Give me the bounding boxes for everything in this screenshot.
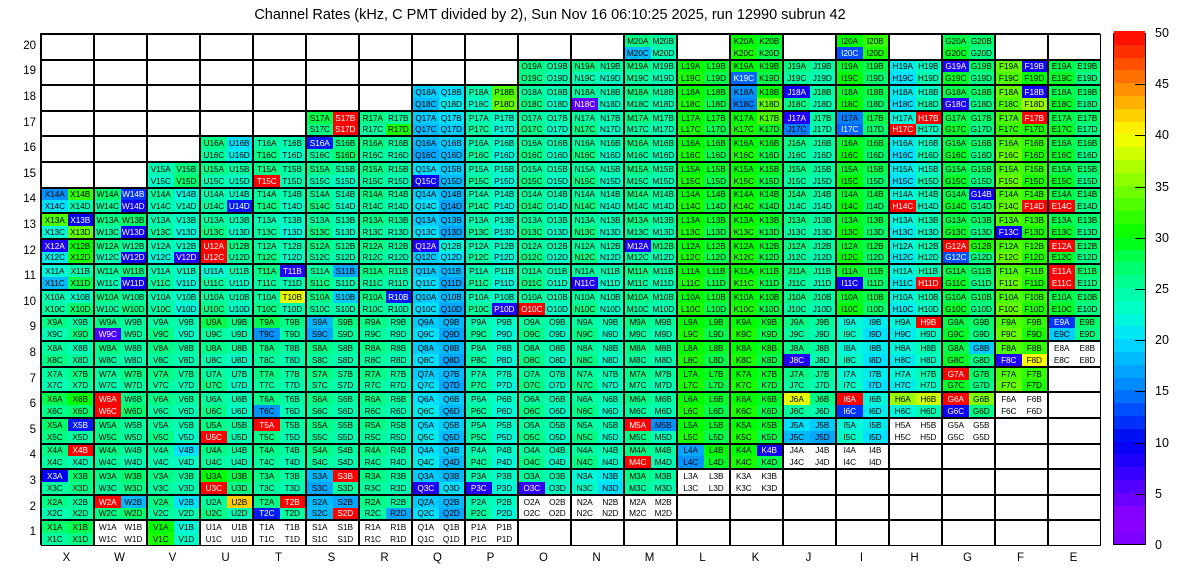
channel-V6D: V6D xyxy=(174,405,200,417)
channel-F13C: F13C xyxy=(996,226,1022,238)
supercell-E2 xyxy=(1048,495,1101,521)
palette-band xyxy=(1114,428,1145,441)
supercell-T14: T14AT14BT14CT14D xyxy=(253,188,306,214)
channel-Q10D: Q10D xyxy=(439,303,465,315)
supercell-T10: T10AT10BT10CT10D xyxy=(253,290,306,316)
supercell-X15 xyxy=(41,162,94,188)
channel-S16D: S16D xyxy=(333,149,359,161)
channel-L8D: L8D xyxy=(704,354,730,366)
channel-L5B: L5B xyxy=(704,419,730,431)
channel-P16A: P16A xyxy=(466,137,492,149)
channel-I8B: I8B xyxy=(863,342,889,354)
channel-G17B: G17B xyxy=(969,112,995,124)
channel-H18D: H18D xyxy=(916,98,942,110)
channel-O3D: O3D xyxy=(545,482,571,494)
channel-X2D: X2D xyxy=(68,508,94,520)
channel-R14B: R14B xyxy=(386,189,412,201)
channel-U15C: U15C xyxy=(201,175,227,187)
supercell-L11: L11AL11BL11CL11D xyxy=(677,264,730,290)
channel-V8A: V8A xyxy=(148,342,174,354)
channel-E14B: E14B xyxy=(1075,189,1101,201)
channel-N8B: N8B xyxy=(598,342,624,354)
channel-J5C: J5C xyxy=(784,431,810,443)
channel-P12D: P12D xyxy=(492,252,518,264)
channel-S11A: S11A xyxy=(307,265,333,277)
channel-E12C: E12C xyxy=(1049,252,1075,264)
supercell-W15 xyxy=(94,162,147,188)
channel-P2D: P2D xyxy=(492,508,518,520)
channel-G20B: G20B xyxy=(969,35,995,47)
channel-Q14A: Q14A xyxy=(413,189,439,201)
channel-E19A: E19A xyxy=(1049,61,1075,73)
channel-S1C: S1C xyxy=(307,533,333,545)
channel-M17B: M17B xyxy=(651,112,677,124)
channel-O16D: O16D xyxy=(545,149,571,161)
channel-M3A: M3A xyxy=(625,470,651,482)
channel-S2A: S2A xyxy=(307,496,333,508)
channel-S2B: S2B xyxy=(333,496,359,508)
supercell-X4: X4AX4BX4CX4D xyxy=(41,444,94,470)
channel-G6B: G6B xyxy=(969,393,995,405)
palette-band xyxy=(1114,300,1145,313)
channel-K15D: K15D xyxy=(757,175,783,187)
channel-N18C: N18C xyxy=(572,98,598,110)
channel-I17B: I17B xyxy=(863,112,889,124)
palette-tickmark xyxy=(1135,340,1146,341)
channel-U11C: U11C xyxy=(201,277,227,289)
channel-K3B: K3B xyxy=(757,470,783,482)
channel-T10D: T10D xyxy=(280,303,306,315)
channel-K20B: K20B xyxy=(757,35,783,47)
channel-F7C: F7C xyxy=(996,380,1022,392)
channel-O7B: O7B xyxy=(545,368,571,380)
supercell-S20 xyxy=(306,34,359,60)
channel-H19A: H19A xyxy=(890,61,916,73)
channel-U3D: U3D xyxy=(227,482,253,494)
supercell-H12: H12AH12BH12CH12D xyxy=(889,239,942,265)
channel-X11A: X11A xyxy=(42,265,68,277)
channel-V12A: V12A xyxy=(148,240,174,252)
channel-X10C: X10C xyxy=(42,303,68,315)
channel-G15B: G15B xyxy=(969,163,995,175)
channel-U12A: U12A xyxy=(201,240,227,252)
channel-N19B: N19B xyxy=(598,61,624,73)
channel-V1D: V1D xyxy=(174,533,200,545)
supercell-J18: J18AJ18BJ18CJ18D xyxy=(783,85,836,111)
supercell-L7: L7AL7BL7CL7D xyxy=(677,367,730,393)
channel-Q13C: Q13C xyxy=(413,226,439,238)
channel-T2B: T2B xyxy=(280,496,306,508)
channel-T10C: T10C xyxy=(254,303,280,315)
channel-H7D: H7D xyxy=(916,380,942,392)
channel-U6A: U6A xyxy=(201,393,227,405)
channel-L16C: L16C xyxy=(678,149,704,161)
channel-K19D: K19D xyxy=(757,72,783,84)
channel-T4A: T4A xyxy=(254,445,280,457)
channel-G17D: G17D xyxy=(969,124,995,136)
channel-O5A: O5A xyxy=(519,419,545,431)
channel-K16C: K16C xyxy=(731,149,757,161)
channel-R15B: R15B xyxy=(386,163,412,175)
channel-X8B: X8B xyxy=(68,342,94,354)
channel-K9C: K9C xyxy=(731,328,757,340)
channel-L10A: L10A xyxy=(678,291,704,303)
channel-M9D: M9D xyxy=(651,328,677,340)
channel-T8B: T8B xyxy=(280,342,306,354)
supercell-Q6: Q6AQ6BQ6CQ6D xyxy=(412,392,465,418)
palette-tickmark xyxy=(1135,84,1146,85)
channel-W7B: W7B xyxy=(121,368,147,380)
channel-N12C: N12C xyxy=(572,252,598,264)
channel-F12C: F12C xyxy=(996,252,1022,264)
channel-P14C: P14C xyxy=(466,200,492,212)
channel-W11A: W11A xyxy=(95,265,121,277)
channel-U9A: U9A xyxy=(201,317,227,329)
channel-M19B: M19B xyxy=(651,61,677,73)
channel-R15C: R15C xyxy=(360,175,386,187)
channel-J13D: J13D xyxy=(810,226,836,238)
channel-R3C: R3C xyxy=(360,482,386,494)
channel-J13B: J13B xyxy=(810,214,836,226)
supercell-Q16: Q16AQ16BQ16CQ16D xyxy=(412,136,465,162)
channel-K8B: K8B xyxy=(757,342,783,354)
channel-I11B: I11B xyxy=(863,265,889,277)
channel-P9D: P9D xyxy=(492,328,518,340)
supercell-I14: I14AI14BI14CI14D xyxy=(836,188,889,214)
channel-W14C: W14C xyxy=(95,200,121,212)
supercell-V19 xyxy=(147,60,200,86)
channel-U4C: U4C xyxy=(201,456,227,468)
channel-G16A: G16A xyxy=(943,137,969,149)
supercell-H20 xyxy=(889,34,942,60)
supercell-M19: M19AM19BM19CM19D xyxy=(624,60,677,86)
channel-H10C: H10C xyxy=(890,303,916,315)
channel-V9B: V9B xyxy=(174,317,200,329)
channel-P7A: P7A xyxy=(466,368,492,380)
supercell-X18 xyxy=(41,85,94,111)
channel-H19B: H19B xyxy=(916,61,942,73)
channel-K15A: K15A xyxy=(731,163,757,175)
supercell-E16: E16AE16BE16CE16D xyxy=(1048,136,1101,162)
channel-U12D: U12D xyxy=(227,252,253,264)
channel-P14A: P14A xyxy=(466,189,492,201)
channel-T15B: T15B xyxy=(280,163,306,175)
channel-U9D: U9D xyxy=(227,328,253,340)
y-axis: 2019181716151413121110987654321 xyxy=(0,33,36,545)
channel-X8A: X8A xyxy=(42,342,68,354)
channel-Q16A: Q16A xyxy=(413,137,439,149)
channel-F11C: F11C xyxy=(996,277,1022,289)
channel-P3D: P3D xyxy=(492,482,518,494)
channel-K13C: K13C xyxy=(731,226,757,238)
channel-K18A: K18A xyxy=(731,86,757,98)
supercell-T12: T12AT12BT12CT12D xyxy=(253,239,306,265)
channel-X5B: X5B xyxy=(68,419,94,431)
channel-E8B: E8B xyxy=(1075,342,1101,354)
supercell-O3: O3AO3BO3CO3D xyxy=(518,469,571,495)
channel-W8B: W8B xyxy=(121,342,147,354)
channel-X11D: X11D xyxy=(68,277,94,289)
channel-S4B: S4B xyxy=(333,445,359,457)
palette-band xyxy=(1114,351,1145,364)
channel-S9A: S9A xyxy=(307,317,333,329)
channel-Q3C: Q3C xyxy=(413,482,439,494)
channel-V1C: V1C xyxy=(148,533,174,545)
supercell-T6: T6AT6BT6CT6D xyxy=(253,392,306,418)
channel-S5C: S5C xyxy=(307,431,333,443)
supercell-G1 xyxy=(942,520,995,546)
channel-Q1B: Q1B xyxy=(439,521,465,533)
supercell-V16 xyxy=(147,136,200,162)
channel-Q13A: Q13A xyxy=(413,214,439,226)
channel-Q9D: Q9D xyxy=(439,328,465,340)
channel-R17A: R17A xyxy=(360,112,386,124)
channel-M7C: M7C xyxy=(625,380,651,392)
channel-O14D: O14D xyxy=(545,200,571,212)
channel-J9D: J9D xyxy=(810,328,836,340)
channel-U16D: U16D xyxy=(227,149,253,161)
supercell-T1: T1AT1BT1CT1D xyxy=(253,520,306,546)
channel-O19D: O19D xyxy=(545,72,571,84)
channel-M14B: M14B xyxy=(651,189,677,201)
channel-N13D: N13D xyxy=(598,226,624,238)
y-axis-label-row-7: 7 xyxy=(10,373,36,385)
supercell-F14: F14AF14BF14CF14D xyxy=(995,188,1048,214)
channel-O7C: O7C xyxy=(519,380,545,392)
channel-P17D: P17D xyxy=(492,124,518,136)
supercell-N20 xyxy=(571,34,624,60)
channel-V15A: V15A xyxy=(148,163,174,175)
supercell-I8: I8AI8BI8CI8D xyxy=(836,341,889,367)
channel-S3B: S3B xyxy=(333,470,359,482)
channel-L15B: L15B xyxy=(704,163,730,175)
channel-L8B: L8B xyxy=(704,342,730,354)
channel-X3C: X3C xyxy=(42,482,68,494)
supercell-U4: U4AU4BU4CU4D xyxy=(200,444,253,470)
channel-K5A: K5A xyxy=(731,419,757,431)
channel-N8D: N8D xyxy=(598,354,624,366)
supercell-I2 xyxy=(836,495,889,521)
channel-U4A: U4A xyxy=(201,445,227,457)
channel-F14D: F14D xyxy=(1022,200,1048,212)
channel-K6C: K6C xyxy=(731,405,757,417)
channel-X9B: X9B xyxy=(68,317,94,329)
channel-R8A: R8A xyxy=(360,342,386,354)
channel-P12C: P12C xyxy=(466,252,492,264)
channel-N16C: N16C xyxy=(572,149,598,161)
channel-J8D: J8D xyxy=(810,354,836,366)
channel-N11D: N11D xyxy=(598,277,624,289)
channel-M20C: M20C xyxy=(625,47,651,59)
channel-J8A: J8A xyxy=(784,342,810,354)
y-axis-label-row-9: 9 xyxy=(10,321,36,333)
channel-I17D: I17D xyxy=(863,124,889,136)
channel-K16D: K16D xyxy=(757,149,783,161)
supercell-Q11: Q11AQ11BQ11CQ11D xyxy=(412,264,465,290)
supercell-V2: V2AV2BV2CV2D xyxy=(147,495,200,521)
supercell-L18: L18AL18BL18CL18D xyxy=(677,85,730,111)
channel-J4D: J4D xyxy=(810,456,836,468)
channel-W2D: W2D xyxy=(121,508,147,520)
supercell-X8: X8AX8BX8CX8D xyxy=(41,341,94,367)
channel-G17C: G17C xyxy=(943,124,969,136)
channel-T6C: T6C xyxy=(254,405,280,417)
supercell-T7: T7AT7BT7CT7D xyxy=(253,367,306,393)
channel-X4A: X4A xyxy=(42,445,68,457)
supercell-S6: S6AS6BS6CS6D xyxy=(306,392,359,418)
channel-J19B: J19B xyxy=(810,61,836,73)
channel-L17D: L17D xyxy=(704,124,730,136)
channel-R7D: R7D xyxy=(386,380,412,392)
channel-K15C: K15C xyxy=(731,175,757,187)
supercell-Q7: Q7AQ7BQ7CQ7D xyxy=(412,367,465,393)
channel-T12D: T12D xyxy=(280,252,306,264)
channel-G6A: G6A xyxy=(943,393,969,405)
supercell-V20 xyxy=(147,34,200,60)
supercell-Q12: Q12AQ12BQ12CQ12D xyxy=(412,239,465,265)
supercell-V7: V7AV7BV7CV7D xyxy=(147,367,200,393)
channel-L4D: L4D xyxy=(704,456,730,468)
x-axis-label-col-Q: Q xyxy=(423,552,453,564)
channel-E13C: E13C xyxy=(1049,226,1075,238)
channel-G19B: G19B xyxy=(969,61,995,73)
supercell-Q20 xyxy=(412,34,465,60)
channel-X3A: X3A xyxy=(42,470,68,482)
supercell-W4: W4AW4BW4CW4D xyxy=(94,444,147,470)
channel-H9A: H9A xyxy=(890,317,916,329)
channel-Q4D: Q4D xyxy=(439,456,465,468)
channel-K18C: K18C xyxy=(731,98,757,110)
supercell-T8: T8AT8BT8CT8D xyxy=(253,341,306,367)
supercell-H2 xyxy=(889,495,942,521)
channel-R16D: R16D xyxy=(386,149,412,161)
channel-L11B: L11B xyxy=(704,265,730,277)
channel-H17A: H17A xyxy=(890,112,916,124)
channel-V7D: V7D xyxy=(174,380,200,392)
channel-V5D: V5D xyxy=(174,431,200,443)
channel-W4D: W4D xyxy=(121,456,147,468)
supercell-H14: H14AH14BH14CH14D xyxy=(889,188,942,214)
channel-S12B: S12B xyxy=(333,240,359,252)
channel-V6B: V6B xyxy=(174,393,200,405)
channel-V13C: V13C xyxy=(148,226,174,238)
supercell-H11: H11AH11BH11CH11D xyxy=(889,264,942,290)
channel-S12D: S12D xyxy=(333,252,359,264)
channel-S6A: S6A xyxy=(307,393,333,405)
supercell-F6: F6AF6BF6CF6D xyxy=(995,392,1048,418)
supercell-J20 xyxy=(783,34,836,60)
channel-I10D: I10D xyxy=(863,303,889,315)
channel-O13B: O13B xyxy=(545,214,571,226)
channel-X6B: X6B xyxy=(68,393,94,405)
supercell-M13: M13AM13BM13CM13D xyxy=(624,213,677,239)
channel-H5C: H5C xyxy=(890,431,916,443)
channel-J15D: J15D xyxy=(810,175,836,187)
channel-R13D: R13D xyxy=(386,226,412,238)
channel-R10A: R10A xyxy=(360,291,386,303)
channel-I5D: I5D xyxy=(863,431,889,443)
supercell-G16: G16AG16BG16CG16D xyxy=(942,136,995,162)
channel-M2D: M2D xyxy=(651,508,677,520)
palette-band xyxy=(1114,44,1145,57)
supercell-X17 xyxy=(41,111,94,137)
supercell-Q3: Q3AQ3BQ3CQ3D xyxy=(412,469,465,495)
channel-V10B: V10B xyxy=(174,291,200,303)
channel-K4B: K4B xyxy=(757,445,783,457)
channel-K11A: K11A xyxy=(731,265,757,277)
supercell-Q8: Q8AQ8BQ8CQ8D xyxy=(412,341,465,367)
channel-V9A: V9A xyxy=(148,317,174,329)
supercell-J4: J4AJ4BJ4CJ4D xyxy=(783,444,836,470)
channel-S5B: S5B xyxy=(333,419,359,431)
supercell-H6: H6AH6BH6CH6D xyxy=(889,392,942,418)
supercell-V15: V15AV15BV15CV15D xyxy=(147,162,200,188)
channel-K16A: K16A xyxy=(731,137,757,149)
channel-M2B: M2B xyxy=(651,496,677,508)
channel-P2C: P2C xyxy=(466,508,492,520)
channel-R8B: R8B xyxy=(386,342,412,354)
channel-R14C: R14C xyxy=(360,200,386,212)
channel-S17C: S17C xyxy=(307,124,333,136)
channel-I9D: I9D xyxy=(863,328,889,340)
channel-N15B: N15B xyxy=(598,163,624,175)
channel-L19A: L19A xyxy=(678,61,704,73)
channel-Q10A: Q10A xyxy=(413,291,439,303)
channel-G18B: G18B xyxy=(969,86,995,98)
channel-I12D: I12D xyxy=(863,252,889,264)
channel-F17D: F17D xyxy=(1022,124,1048,136)
channel-X8D: X8D xyxy=(68,354,94,366)
channel-I15D: I15D xyxy=(863,175,889,187)
channel-J12B: J12B xyxy=(810,240,836,252)
supercell-E11: E11AE11BE11CE11D xyxy=(1048,264,1101,290)
channel-N5A: N5A xyxy=(572,419,598,431)
channel-R11D: R11D xyxy=(386,277,412,289)
channel-S9D: S9D xyxy=(333,328,359,340)
supercell-E13: E13AE13BE13CE13D xyxy=(1048,213,1101,239)
channel-V13B: V13B xyxy=(174,214,200,226)
supercell-J2 xyxy=(783,495,836,521)
channel-E8D: E8D xyxy=(1075,354,1101,366)
channel-F9B: F9B xyxy=(1022,317,1048,329)
supercell-F19: F19AF19BF19CF19D xyxy=(995,60,1048,86)
channel-J13A: J13A xyxy=(784,214,810,226)
channel-I4A: I4A xyxy=(837,445,863,457)
channel-G15A: G15A xyxy=(943,163,969,175)
palette-band xyxy=(1114,262,1145,275)
channel-X5A: X5A xyxy=(42,419,68,431)
channel-L5D: L5D xyxy=(704,431,730,443)
channel-W10A: W10A xyxy=(95,291,121,303)
x-axis-label-col-T: T xyxy=(264,552,294,564)
channel-R10D: R10D xyxy=(386,303,412,315)
channel-V10C: V10C xyxy=(148,303,174,315)
channel-V13D: V13D xyxy=(174,226,200,238)
channel-I20D: I20D xyxy=(863,47,889,59)
channel-M11B: M11B xyxy=(651,265,677,277)
channel-M15C: M15C xyxy=(625,175,651,187)
supercell-P17: P17AP17BP17CP17D xyxy=(465,111,518,137)
channel-T9B: T9B xyxy=(280,317,306,329)
channel-V4D: V4D xyxy=(174,456,200,468)
channel-M4B: M4B xyxy=(651,445,677,457)
channel-K17A: K17A xyxy=(731,112,757,124)
channel-M6A: M6A xyxy=(625,393,651,405)
supercell-O20 xyxy=(518,34,571,60)
channel-X5C: X5C xyxy=(42,431,68,443)
channel-O13C: O13C xyxy=(519,226,545,238)
channel-O6B: O6B xyxy=(545,393,571,405)
